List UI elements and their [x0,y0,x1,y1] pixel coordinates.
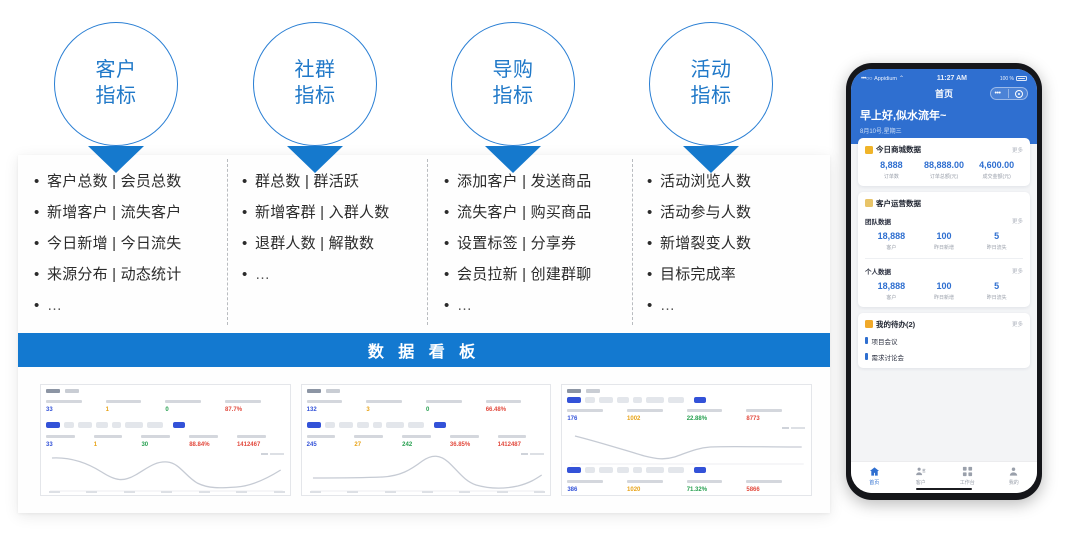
phone-screen: •••○○ Appidium ⌃ 11:27 AM 100 % 首页 ••• [851,69,1037,493]
stat-item: 5 昨日流失 [970,232,1023,251]
stat-label: 昨日流失 [970,294,1023,301]
workbench-icon [962,466,973,477]
thumb-stat-value: 8773 [746,416,806,422]
thumb-stat-value: 176 [567,416,627,422]
thumb-stat-row: 176 1002 22.88% 8773 [567,409,806,422]
tab-label: 首页 [869,479,879,486]
profile-icon [1008,466,1019,477]
thumb-stat: 22.88% [687,409,747,422]
tab-customer[interactable]: 客户 [898,466,945,486]
thumb-pill [646,467,664,473]
arrow-down-icon [485,146,541,173]
stat-row: 18,888 客户 100 昨日新增 5 昨日流失 [865,232,1023,251]
thumb-tab [567,389,581,393]
thumb-stat: 71.32% [687,480,747,493]
dashboard-thumbnails: 33 1 0 87.7% [18,367,830,513]
thumb-stat-value: 1020 [627,487,687,493]
shop-icon [865,146,873,154]
list-item-label: … [660,297,676,315]
bullet-icon: • [34,297,47,315]
dashboard-thumbnail[interactable]: 132 3 0 66.48% [301,384,552,496]
stat-value: 8,888 [865,161,918,171]
stat-item: 4,600.00 成交金额(元) [970,161,1023,180]
user-icon [865,199,873,207]
thumb-stat-value: 132 [307,407,367,413]
dashboard-thumbnail[interactable]: 33 1 0 87.7% [40,384,291,496]
thumb-stat: 1 [106,400,166,413]
list-item: •会员拉新 | 创建群聊 [444,266,629,284]
thumb-stat: 1002 [627,409,687,422]
thumb-stat: 1412467 [237,435,285,448]
thumb-pill [668,467,684,473]
stat-item: 100 昨日新增 [918,232,971,251]
bullet-icon: • [242,173,255,191]
list-item: •新增客户 | 流失客户 [34,204,224,222]
stat-item: 88,888.00 订单总额(元) [918,161,971,180]
stat-value: 4,600.00 [970,161,1023,171]
greeting-text: 早上好,似水流年~ [860,107,1028,123]
thumb-stat: 33 [46,435,94,448]
thumb-pill-active [434,422,446,428]
capsule-divider [1008,89,1009,98]
thumb-stat-value: 5866 [746,487,806,493]
thumb-line-chart [307,448,546,492]
metrics-lists: •客户总数 | 会员总数 •新增客户 | 流失客户 •今日新增 | 今日流失 •… [18,155,830,333]
circle-guide-metrics: 导购 指标 [451,22,575,146]
circle-customer-metrics: 客户 指标 [54,22,178,146]
thumb-stat: 1 [94,435,142,448]
list-item: •目标完成率 [647,266,826,284]
list-item-label: 添加客户 | 发送商品 [457,173,591,191]
circle-label-line2: 指标 [96,84,137,110]
thumb-pill-active [307,422,321,428]
bullet-icon: • [647,204,660,222]
bullet-icon: • [647,173,660,191]
todo-list-item[interactable]: 需求讨论会 [865,352,1023,362]
stat-value: 100 [918,282,971,292]
card-header: 我的待办(2) 更多 [865,319,1023,330]
metrics-column-guide: •添加客户 | 发送商品 •流失客户 | 购买商品 •设置标签 | 分享券 •会… [428,155,633,333]
wifi-icon: ⌃ [899,75,904,82]
bullet-icon: • [242,204,255,222]
thumb-stat: 1412487 [498,435,546,448]
card-title-label: 我的待办(2) [876,319,915,330]
thumb-stat: 386 [567,480,627,493]
bullet-icon: • [444,173,457,191]
list-item-label: … [47,297,63,315]
carrier-label: Appidium [874,76,897,82]
thumb-stat: 0 [426,400,486,413]
bullet-icon: • [34,266,47,284]
more-link[interactable]: 更多 [1012,320,1023,328]
app-header: •••○○ Appidium ⌃ 11:27 AM 100 % 首页 ••• [851,69,1037,144]
thumb-pill [112,422,121,428]
list-item: •退群人数 | 解散数 [242,235,424,253]
circle-label-line1: 活动 [691,58,732,84]
stat-label: 昨日新增 [918,244,971,251]
todo-marker-icon [865,337,868,344]
list-item-label: 流失客户 | 购买商品 [457,204,591,222]
thumb-tab [326,389,340,393]
card-my-todo[interactable]: 我的待办(2) 更多 项目会议 需求讨论会 [858,313,1030,368]
thumb-stat: 242 [402,435,450,448]
thumb-pill-active [567,467,581,473]
card-customer-operations[interactable]: 客户运营数据 团队数据 更多 18,888 客户 100 [858,192,1030,307]
circle-label-line1: 客户 [96,58,137,84]
stat-value: 88,888.00 [918,161,971,171]
thumb-stat: 3 [366,400,426,413]
thumb-pill [325,422,335,428]
stat-value: 18,888 [865,282,918,292]
thumb-pill [617,467,629,473]
card-header: 客户运营数据 [865,198,1023,209]
dashboard-thumbnail[interactable]: 176 1002 22.88% 8773 [561,384,812,496]
circle-row: 客户 指标 社群 指标 导购 指标 活动 指标 [0,22,845,152]
stat-value: 18,888 [865,232,918,242]
list-item-label: 群总数 | 群活跃 [255,173,359,191]
thumb-stat-value: 1002 [627,416,687,422]
list-item: •… [34,297,224,315]
thumb-pill [599,397,613,403]
card-title-label: 客户运营数据 [876,198,921,209]
stat-row: 18,888 客户 100 昨日新增 5 昨日流失 [865,282,1023,301]
section-header-team: 团队数据 更多 [865,216,1023,226]
status-left: •••○○ Appidium ⌃ [861,75,904,82]
home-icon [869,466,880,477]
thumb-tab [586,389,600,393]
thumb-stat: 30 [141,435,189,448]
battery-label: 100 % [1000,76,1014,82]
thumb-filter-pills[interactable] [307,422,546,428]
list-item: •… [647,297,826,315]
stat-value: 5 [970,232,1023,242]
thumb-tab [65,389,79,393]
bullet-icon: • [444,297,457,315]
thumb-stat: 0 [165,400,225,413]
screenshot-root: 客户 指标 社群 指标 导购 指标 活动 指标 •客户总数 | 会员总数 [0,0,1080,537]
thumb-stat-value: 87.7% [225,407,285,413]
thumb-pill [617,397,629,403]
thumb-pill [125,422,143,428]
thumb-stat: 245 [307,435,355,448]
thumb-stat: 36.85% [450,435,498,448]
thumb-stat-row: 245 27 242 36.85% 1412487 [307,435,546,448]
stat-value: 100 [918,232,971,242]
list-item-label: 来源分布 | 动态统计 [47,266,181,284]
stat-label: 订单总额(元) [918,173,971,180]
thumb-pill [373,422,382,428]
list-item: •活动参与人数 [647,204,826,222]
greeting-date: 8月10号,星期三 [860,126,1028,135]
bullet-icon: • [34,204,47,222]
battery-icon [1016,76,1027,81]
thumb-stat-value: 71.32% [687,487,747,493]
thumb-stat: 8773 [746,409,806,422]
stat-label: 客户 [865,294,918,301]
stat-item: 8,888 订单数 [865,161,918,180]
todo-marker-icon [865,353,868,360]
list-item: •活动浏览人数 [647,173,826,191]
section-header-personal: 个人数据 更多 [865,266,1023,276]
stat-label: 客户 [865,244,918,251]
thumb-pill [64,422,74,428]
arrow-down-icon [88,146,144,173]
tab-home[interactable]: 首页 [851,466,898,486]
thumb-stat-value: 66.48% [486,407,546,413]
list-item: •流失客户 | 购买商品 [444,204,629,222]
data-dashboard-banner: 数 据 看 板 [18,333,830,367]
list-item-label: 新增客户 | 流失客户 [47,204,181,222]
list-item: •今日新增 | 今日流失 [34,235,224,253]
thumb-pill [339,422,353,428]
thumb-stat-value: 3 [366,407,426,413]
bullet-icon: • [242,266,255,284]
list-item-label: 新增裂变人数 [660,235,751,253]
thumb-pill [646,397,664,403]
circle-label-line2: 指标 [493,84,534,110]
more-link[interactable]: 更多 [1012,217,1023,225]
stat-item: 18,888 客户 [865,232,918,251]
divider [865,258,1023,259]
thumb-axis-labels [49,491,285,493]
thumb-pill [633,397,642,403]
thumb-filter-pills[interactable] [567,467,806,473]
card-title: 今日商城数据 [865,144,921,155]
thumb-axis-labels [310,491,546,493]
list-item: •… [444,297,629,315]
card-title-label: 今日商城数据 [876,144,921,155]
bullet-icon: • [647,235,660,253]
bullet-icon: • [647,297,660,315]
list-item: •来源分布 | 动态统计 [34,266,224,284]
list-item: •设置标签 | 分享券 [444,235,629,253]
thumb-tab [307,389,321,393]
stat-label: 成交金额(元) [970,173,1023,180]
more-menu-icon[interactable]: ••• [995,90,1001,97]
thumb-stat-value: 22.88% [687,416,747,422]
thumb-stat: 66.48% [486,400,546,413]
thumb-stat-value: 1 [106,407,166,413]
circle-community-metrics: 社群 指标 [253,22,377,146]
bullet-icon: • [444,235,457,253]
thumb-tabs [46,389,79,393]
metrics-column-community: •群总数 | 群活跃 •新增客群 | 入群人数 •退群人数 | 解散数 •… [228,155,428,333]
customer-icon [915,466,926,477]
thumb-line-chart [567,431,806,465]
signal-icon: •••○○ [861,76,872,82]
section-title: 个人数据 [865,266,891,276]
thumb-pill [599,467,613,473]
thumb-pill-active [567,397,581,403]
thumb-pill [147,422,163,428]
thumb-pill [585,397,595,403]
tab-profile[interactable]: 我的 [991,466,1038,486]
stat-label: 订单数 [865,173,918,180]
thumb-stat-row: 33 1 0 87.7% [46,400,285,413]
list-item-label: 会员拉新 | 创建群聊 [457,266,591,284]
thumb-stat: 27 [354,435,402,448]
arrow-down-icon [287,146,343,173]
thumb-pill-active [46,422,60,428]
stat-row: 8,888 订单数 88,888.00 订单总额(元) 4,600.00 成交金… [865,161,1023,180]
status-right: 100 % [1000,76,1027,82]
circle-label-line2: 指标 [691,84,732,110]
thumb-stat: 33 [46,400,106,413]
stat-item: 18,888 客户 [865,282,918,301]
miniprogram-capsule[interactable]: ••• [990,87,1028,100]
thumb-stat: 132 [307,400,367,413]
list-item-label: 退群人数 | 解散数 [255,235,374,253]
stat-item: 100 昨日新增 [918,282,971,301]
thumb-legend [782,427,805,429]
thumb-pill [386,422,404,428]
thumb-pill [585,467,595,473]
home-indicator [916,488,972,491]
status-bar: •••○○ Appidium ⌃ 11:27 AM 100 % [860,73,1028,84]
card-header: 今日商城数据 更多 [865,144,1023,155]
thumb-pill [357,422,369,428]
bullet-icon: • [647,266,660,284]
close-target-icon[interactable] [1015,90,1023,98]
list-item-label: … [255,266,271,284]
circle-label-line2: 指标 [295,84,336,110]
thumb-line-chart [46,448,285,492]
thumb-stat-value: 386 [567,487,627,493]
tab-label: 工作台 [960,479,975,486]
thumb-stat-row: 386 1020 71.32% 5866 [567,480,806,493]
thumb-pill [96,422,108,428]
thumb-stat: 88.84% [189,435,237,448]
list-item: •… [242,266,424,284]
list-item: •新增裂变人数 [647,235,826,253]
thumb-stat: 87.7% [225,400,285,413]
circle-label-line1: 导购 [493,58,534,84]
thumb-stat: 176 [567,409,627,422]
content-scroll[interactable]: 今日商城数据 更多 8,888 订单数 88,888.00 订单总额(元) [851,138,1037,461]
metrics-column-activity: •活动浏览人数 •活动参与人数 •新增裂变人数 •目标完成率 •… [633,155,830,333]
list-item: •客户总数 | 会员总数 [34,173,224,191]
thumb-stat-value: 0 [165,407,225,413]
tab-label: 我的 [1009,479,1019,486]
tab-workbench[interactable]: 工作台 [944,466,991,486]
phone-mockup: •••○○ Appidium ⌃ 11:27 AM 100 % 首页 ••• [846,63,1042,500]
todo-icon [865,320,873,328]
thumb-filter-pills[interactable] [46,422,285,428]
list-item-label: 新增客群 | 入群人数 [255,204,389,222]
thumb-stat: 1020 [627,480,687,493]
bullet-icon: • [242,235,255,253]
list-item-label: 设置标签 | 分享券 [457,235,576,253]
bullet-icon: • [34,173,47,191]
arrow-down-icon [683,146,739,173]
circle-label-line1: 社群 [295,58,336,84]
status-time: 11:27 AM [937,75,967,82]
todo-list-item[interactable]: 项目会议 [865,336,1023,346]
thumb-stat-row: 33 1 30 88.84% 1412467 [46,435,285,448]
bullet-icon: • [34,235,47,253]
list-item-label: 目标完成率 [660,266,736,284]
page-title: 首页 [935,87,953,100]
thumb-pill-active [694,467,706,473]
card-title: 客户运营数据 [865,198,921,209]
list-item-label: 活动参与人数 [660,204,751,222]
list-item-label: … [457,297,473,315]
thumb-stat-row: 132 3 0 66.48% [307,400,546,413]
thumb-pill [668,397,684,403]
thumb-pill-active [173,422,185,428]
metrics-column-customer: •客户总数 | 会员总数 •新增客户 | 流失客户 •今日新增 | 今日流失 •… [18,155,228,333]
circle-activity-metrics: 活动 指标 [649,22,773,146]
thumb-filter-pills[interactable] [567,397,806,403]
stat-item: 5 昨日流失 [970,282,1023,301]
stat-label: 昨日新增 [918,294,971,301]
thumb-pill [633,467,642,473]
thumb-tabs [307,389,340,393]
tab-label: 客户 [916,479,926,486]
thumb-tab [46,389,60,393]
metrics-panel: •客户总数 | 会员总数 •新增客户 | 流失客户 •今日新增 | 今日流失 •… [18,155,830,513]
section-title: 团队数据 [865,216,891,226]
card-mall-data[interactable]: 今日商城数据 更多 8,888 订单数 88,888.00 订单总额(元) [858,138,1030,186]
thumb-stat: 5866 [746,480,806,493]
more-link[interactable]: 更多 [1012,267,1023,275]
card-title: 我的待办(2) [865,319,915,330]
thumb-pill-active [694,397,706,403]
stat-value: 5 [970,282,1023,292]
nav-bar: 首页 ••• [860,84,1028,102]
thumb-stat-value: 33 [46,407,106,413]
thumb-tabs [567,389,600,393]
bullet-icon: • [444,204,457,222]
list-item-label: 今日新增 | 今日流失 [47,235,181,253]
list-item-label: 活动浏览人数 [660,173,751,191]
bullet-icon: • [444,266,457,284]
more-link[interactable]: 更多 [1012,146,1023,154]
metrics-diagram: 客户 指标 社群 指标 导购 指标 活动 指标 •客户总数 | 会员总数 [0,0,845,537]
list-item: •群总数 | 群活跃 [242,173,424,191]
todo-label: 项目会议 [872,336,898,346]
thumb-stat-value: 0 [426,407,486,413]
todo-label: 需求讨论会 [872,352,905,362]
list-item-label: 客户总数 | 会员总数 [47,173,181,191]
thumb-pill [78,422,92,428]
thumb-pill [408,422,424,428]
list-item: •新增客群 | 入群人数 [242,204,424,222]
list-item: •添加客户 | 发送商品 [444,173,629,191]
stat-label: 昨日流失 [970,244,1023,251]
